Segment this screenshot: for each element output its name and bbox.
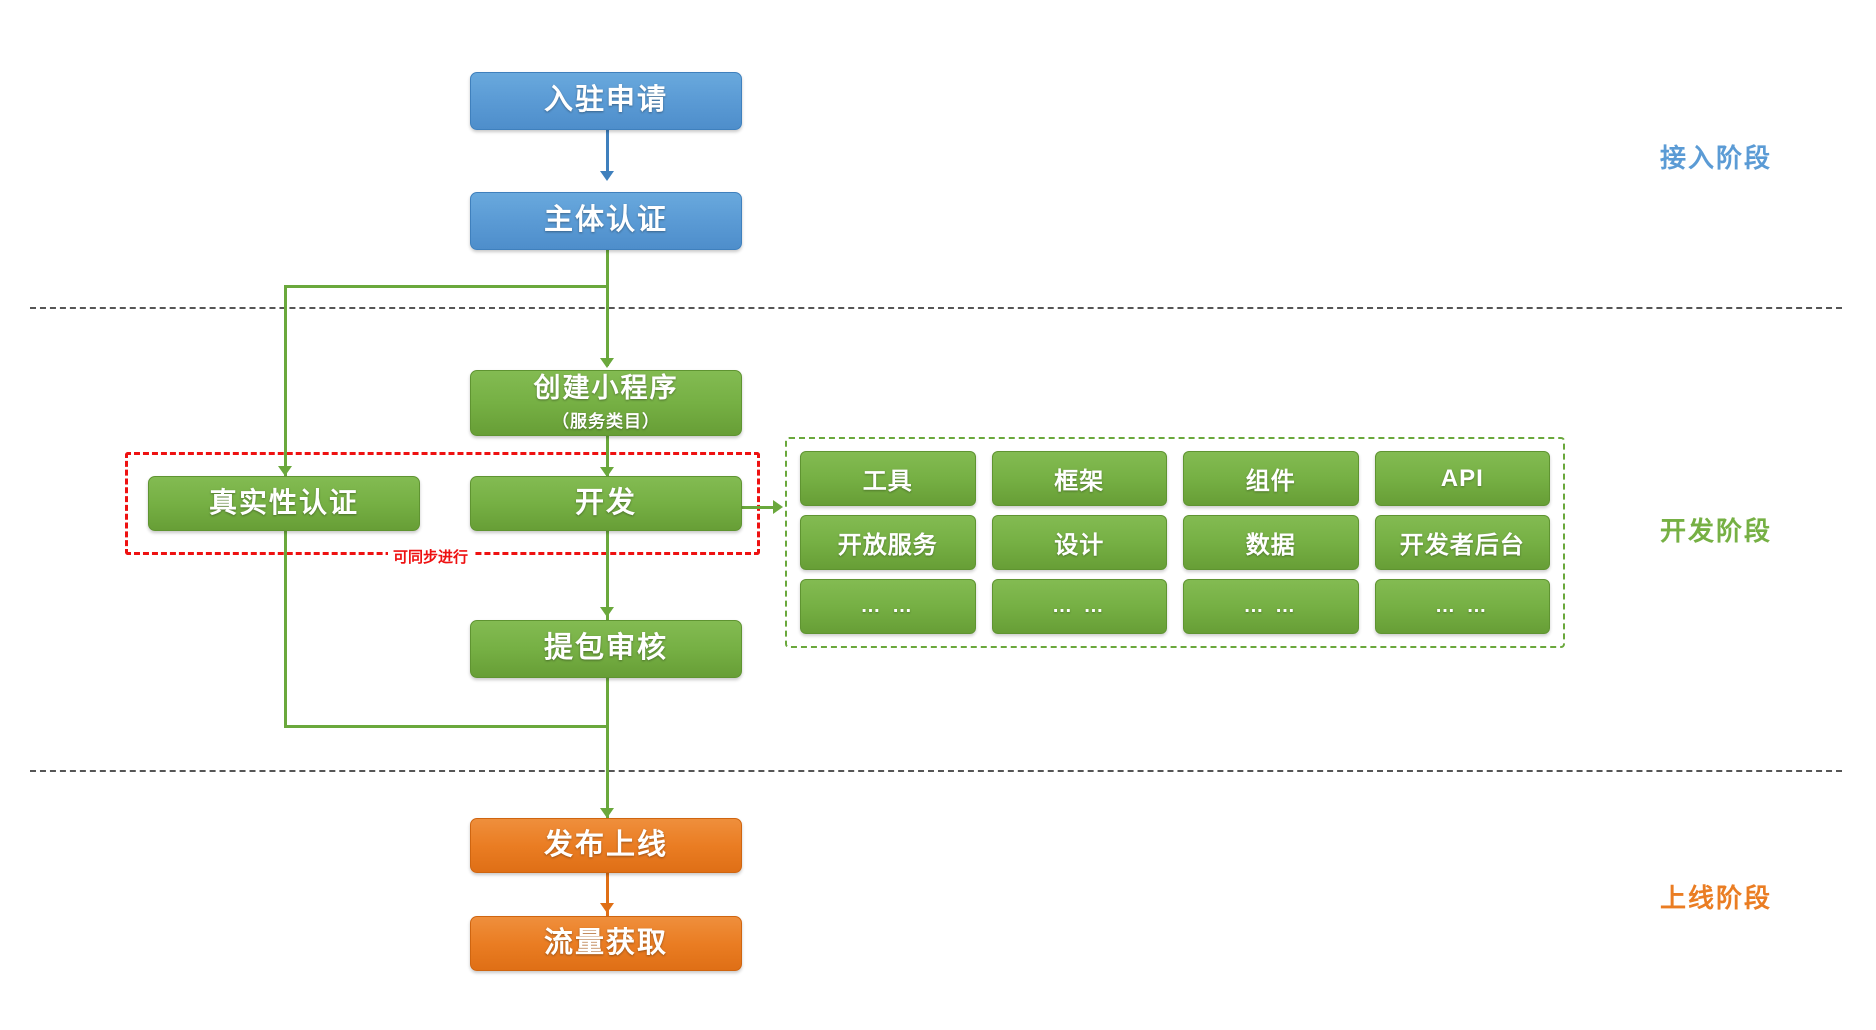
connector-authenticity-join-trunk — [284, 725, 609, 728]
capability-cell-api[interactable]: API — [1375, 451, 1551, 506]
stage-label-development: 开发阶段 — [1660, 511, 1772, 548]
node-development[interactable]: 开发 — [470, 476, 742, 531]
node-create-miniprogram[interactable]: 创建小程序 （服务类目） — [470, 370, 742, 436]
node-package-review-label: 提包审核 — [544, 633, 668, 665]
node-entity-verification[interactable]: 主体认证 — [470, 192, 742, 250]
connector-branch-horizontal — [284, 285, 609, 288]
connector-authenticity-down — [284, 530, 287, 728]
node-authenticity-verification-label: 真实性认证 — [209, 488, 359, 519]
stage-label-launch: 上线阶段 — [1660, 878, 1772, 915]
capability-cell-components[interactable]: 组件 — [1183, 451, 1359, 506]
capability-cell-more-2[interactable]: … … — [992, 579, 1168, 634]
node-authenticity-verification[interactable]: 真实性认证 — [148, 476, 420, 531]
capability-cell-more-3[interactable]: … … — [1183, 579, 1359, 634]
node-create-miniprogram-label: 创建小程序 — [534, 374, 679, 404]
capability-cell-open-services[interactable]: 开放服务 — [800, 515, 976, 570]
connector-branch-down-left — [284, 285, 287, 477]
arrowhead-traffic-acquisition — [600, 903, 614, 913]
arrowhead-publish-online — [600, 808, 614, 818]
flowchart-canvas: 可同步进行 工具 框架 组件 API 开放服务 设计 数据 开发者后台 … … … — [0, 0, 1876, 1030]
node-publish-online[interactable]: 发布上线 — [470, 818, 742, 873]
capability-cell-tools[interactable]: 工具 — [800, 451, 976, 506]
node-traffic-acquisition-label: 流量获取 — [544, 928, 668, 960]
arrowhead-create-miniprogram — [600, 358, 614, 368]
node-entry-application[interactable]: 入驻申请 — [470, 72, 742, 130]
arrowhead-package-review — [600, 607, 614, 617]
stage-divider-development-launch — [30, 770, 1842, 772]
connector-review-to-publish — [606, 676, 609, 818]
node-publish-online-label: 发布上线 — [544, 830, 668, 862]
node-create-miniprogram-sublabel: （服务类目） — [552, 407, 660, 432]
stage-label-access: 接入阶段 — [1660, 138, 1772, 175]
capability-cell-data[interactable]: 数据 — [1183, 515, 1359, 570]
arrowhead-entity-verify — [600, 171, 614, 181]
capability-cell-design[interactable]: 设计 — [992, 515, 1168, 570]
node-entity-verification-label: 主体认证 — [544, 205, 668, 237]
arrowhead-capabilities — [773, 500, 783, 514]
arrowhead-authenticity-verify — [278, 466, 292, 476]
sync-group-label: 可同步进行 — [388, 546, 473, 567]
capability-grid: 工具 框架 组件 API 开放服务 设计 数据 开发者后台 … … … … … … — [800, 451, 1550, 634]
node-package-review[interactable]: 提包审核 — [470, 620, 742, 678]
capability-cell-developer-admin[interactable]: 开发者后台 — [1375, 515, 1551, 570]
capability-cell-more-1[interactable]: … … — [800, 579, 976, 634]
node-entry-application-label: 入驻申请 — [544, 85, 668, 117]
node-traffic-acquisition[interactable]: 流量获取 — [470, 916, 742, 971]
stage-divider-access-development — [30, 307, 1842, 309]
capability-cell-more-4[interactable]: … … — [1375, 579, 1551, 634]
node-development-label: 开发 — [575, 488, 637, 520]
capability-cell-framework[interactable]: 框架 — [992, 451, 1168, 506]
